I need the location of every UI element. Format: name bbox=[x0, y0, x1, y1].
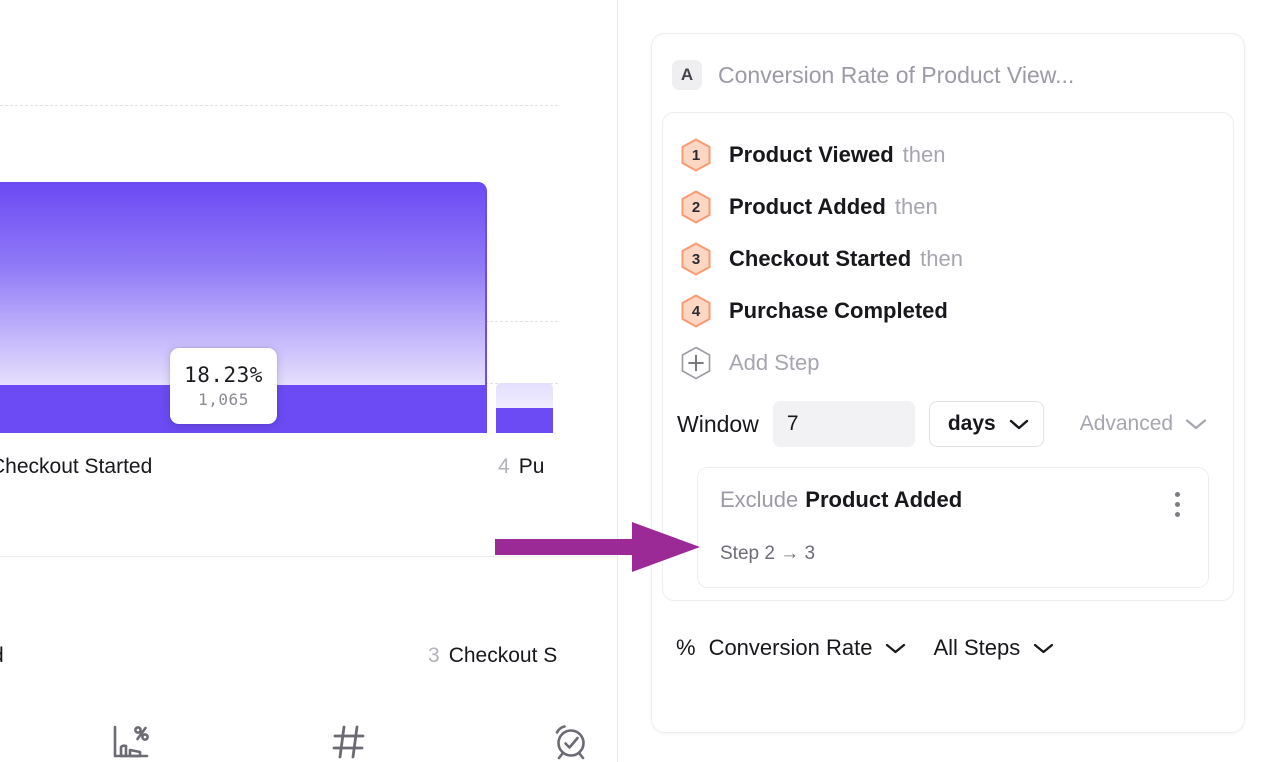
funnel-step-2[interactable]: 2 Product Addedthen bbox=[663, 181, 1233, 233]
kebab-dot bbox=[1175, 512, 1180, 517]
window-unit-select[interactable]: days bbox=[929, 401, 1044, 447]
step-number: 1 bbox=[692, 148, 700, 163]
window-value-input[interactable] bbox=[773, 401, 915, 447]
chevron-down-icon[interactable] bbox=[885, 642, 906, 655]
step-number-badge: 1 bbox=[681, 138, 711, 172]
step-event-name: Product Added bbox=[729, 194, 886, 219]
step-number: 3 bbox=[692, 252, 700, 267]
step-label-wrap: Purchase Completed bbox=[729, 298, 957, 324]
step-label-wrap: Checkout Startedthen bbox=[729, 246, 963, 272]
step-connector: then bbox=[895, 194, 938, 219]
exclusion-prefix: Exclude bbox=[720, 487, 798, 512]
window-unit-value: days bbox=[948, 412, 996, 436]
tooltip-percent: 18.23% bbox=[184, 363, 263, 387]
scope-select-label[interactable]: All Steps bbox=[933, 635, 1020, 661]
secondary-chart-strip: d 3Checkout S bbox=[0, 556, 618, 762]
kebab-dot bbox=[1175, 492, 1180, 497]
funnel-step-3[interactable]: 3 Checkout Startedthen bbox=[663, 233, 1233, 285]
series-letter-badge: A bbox=[672, 60, 702, 90]
step-number-badge: 4 bbox=[681, 294, 711, 328]
step-event-name: Checkout Started bbox=[729, 246, 911, 271]
plus-icon bbox=[681, 346, 711, 380]
funnel-bar-purchase-completed[interactable] bbox=[496, 383, 553, 433]
exclusion-header: ExcludeProduct Added bbox=[720, 488, 1186, 521]
x-tick-number: 4 bbox=[498, 455, 510, 478]
alarm-check-icon[interactable] bbox=[551, 722, 591, 762]
chart-percent-icon[interactable] bbox=[110, 722, 152, 762]
hash-icon[interactable] bbox=[331, 723, 367, 761]
step-number: 4 bbox=[692, 304, 700, 319]
step-event-name: Purchase Completed bbox=[729, 298, 948, 323]
app-root: 18.23% 1,065 Checkout Started 4Pu d 3Che… bbox=[0, 0, 1264, 762]
funnel-step-4[interactable]: 4 Purchase Completed bbox=[663, 285, 1233, 337]
panel-header: A Conversion Rate of Product View... bbox=[652, 34, 1244, 112]
funnel-step-1[interactable]: 1 Product Viewedthen bbox=[663, 129, 1233, 181]
percent-icon: % bbox=[676, 635, 696, 661]
step-label-wrap: Product Addedthen bbox=[729, 194, 938, 220]
exclusion-step-range: Step 2 → 3 bbox=[720, 543, 1186, 565]
add-step-label: Add Step bbox=[729, 350, 820, 376]
x-tick-label-4: 4Pu bbox=[498, 455, 544, 479]
bar-solid-base bbox=[496, 408, 553, 433]
region-divider bbox=[617, 0, 618, 762]
exclusion-card[interactable]: ExcludeProduct Added Step 2 → 3 bbox=[697, 467, 1209, 588]
advanced-toggle[interactable]: Advanced bbox=[1080, 412, 1207, 436]
step-number: 2 bbox=[692, 200, 700, 215]
lower-tick-number: 3 bbox=[428, 644, 440, 667]
advanced-label: Advanced bbox=[1080, 412, 1173, 436]
step-number-badge: 2 bbox=[681, 190, 711, 224]
step-number-badge: 3 bbox=[681, 242, 711, 276]
chart-tooltip: 18.23% 1,065 bbox=[170, 348, 277, 424]
x-tick-label-3: Checkout Started bbox=[0, 455, 152, 479]
lower-tick-text: d bbox=[0, 644, 4, 667]
add-step-button[interactable]: Add Step bbox=[663, 337, 1233, 389]
chevron-down-icon[interactable] bbox=[1033, 642, 1054, 655]
funnel-chart-plot: 18.23% 1,065 bbox=[0, 0, 618, 441]
step-label-wrap: Product Viewedthen bbox=[729, 142, 945, 168]
funnel-definition-panel: A Conversion Rate of Product View... 1 P… bbox=[651, 33, 1245, 733]
chevron-down-icon bbox=[1009, 418, 1029, 431]
funnel-chart-region: 18.23% 1,065 Checkout Started 4Pu d 3Che… bbox=[0, 0, 618, 762]
step-connector: then bbox=[903, 142, 946, 167]
x-tick-text: Pu bbox=[519, 455, 545, 478]
conversion-window-row: Window days Advanced bbox=[663, 389, 1233, 453]
lower-tick-label-2: 3Checkout S bbox=[428, 644, 557, 668]
metric-controls-row: % Conversion Rate All Steps bbox=[652, 615, 1244, 661]
lower-tick-text: Checkout S bbox=[449, 644, 558, 667]
exclusion-event-name: Product Added bbox=[805, 487, 962, 512]
metric-select-label[interactable]: Conversion Rate bbox=[709, 635, 873, 661]
x-tick-text: Checkout Started bbox=[0, 455, 152, 478]
funnel-steps-card: 1 Product Viewedthen 2 Product Addedthen bbox=[662, 112, 1234, 601]
lower-tick-label-1: d bbox=[0, 644, 4, 668]
gridline bbox=[0, 105, 558, 106]
kebab-menu-icon[interactable] bbox=[1169, 488, 1186, 521]
tooltip-count: 1,065 bbox=[198, 390, 249, 409]
chart-x-axis: Checkout Started 4Pu bbox=[0, 455, 618, 499]
exclusion-title: ExcludeProduct Added bbox=[720, 488, 962, 512]
step-event-name: Product Viewed bbox=[729, 142, 894, 167]
kebab-dot bbox=[1175, 502, 1180, 507]
step-connector: then bbox=[920, 246, 963, 271]
chevron-down-icon bbox=[1185, 417, 1207, 431]
panel-title[interactable]: Conversion Rate of Product View... bbox=[718, 62, 1074, 89]
window-label: Window bbox=[677, 411, 759, 438]
